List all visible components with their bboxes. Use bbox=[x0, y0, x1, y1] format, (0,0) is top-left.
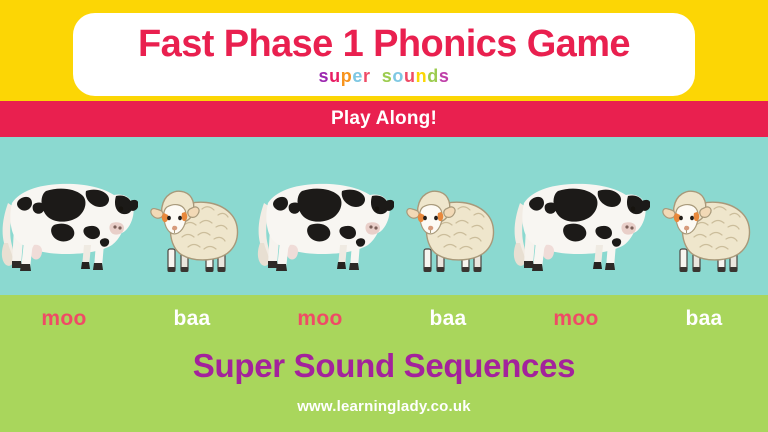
page-title: Fast Phase 1 Phonics Game bbox=[138, 25, 630, 63]
website-url: www.learninglady.co.uk bbox=[0, 398, 768, 415]
subtitle-letter: s bbox=[319, 67, 330, 85]
animal-cell-cow[interactable] bbox=[0, 137, 128, 295]
sound-word-moo[interactable]: moo bbox=[0, 307, 128, 331]
subtitle-letter: u bbox=[329, 67, 341, 85]
subtitle-letter bbox=[371, 67, 382, 85]
subtitle-letter: n bbox=[416, 67, 428, 85]
animal-cell-sheep[interactable] bbox=[640, 137, 768, 295]
cow-illustration bbox=[246, 169, 394, 281]
sound-word-row: moobaamoobaamoobaa bbox=[0, 295, 768, 343]
title-card: Fast Phase 1 Phonics Game super sounds bbox=[73, 13, 695, 96]
subtitle-letter: r bbox=[363, 67, 371, 85]
sheep-illustration bbox=[396, 177, 500, 281]
sheep-illustration bbox=[652, 177, 756, 281]
animal-cell-sheep[interactable] bbox=[128, 137, 256, 295]
subtitle-letter: d bbox=[427, 67, 439, 85]
cow-illustration bbox=[0, 169, 138, 281]
animal-cell-cow[interactable] bbox=[512, 137, 640, 295]
sound-word-baa[interactable]: baa bbox=[384, 307, 512, 331]
subtitle-super-sounds: super sounds bbox=[319, 67, 450, 85]
subtitle-letter: o bbox=[392, 67, 404, 85]
sound-word-moo[interactable]: moo bbox=[256, 307, 384, 331]
sound-word-moo[interactable]: moo bbox=[512, 307, 640, 331]
sheep-illustration bbox=[140, 177, 244, 281]
animal-cell-sheep[interactable] bbox=[384, 137, 512, 295]
phonics-game-poster: Fast Phase 1 Phonics Game super sounds P… bbox=[0, 0, 768, 432]
subtitle-letter: u bbox=[404, 67, 416, 85]
animal-cell-cow[interactable] bbox=[256, 137, 384, 295]
bottom-title: Super Sound Sequences bbox=[0, 349, 768, 384]
animal-sequence-strip bbox=[0, 137, 768, 295]
cow-illustration bbox=[502, 169, 650, 281]
play-along-banner: Play Along! bbox=[0, 101, 768, 137]
subtitle-letter: s bbox=[382, 67, 393, 85]
sound-word-baa[interactable]: baa bbox=[640, 307, 768, 331]
subtitle-letter: p bbox=[341, 67, 353, 85]
sound-word-baa[interactable]: baa bbox=[128, 307, 256, 331]
subtitle-letter: e bbox=[352, 67, 363, 85]
subtitle-letter: s bbox=[439, 67, 450, 85]
